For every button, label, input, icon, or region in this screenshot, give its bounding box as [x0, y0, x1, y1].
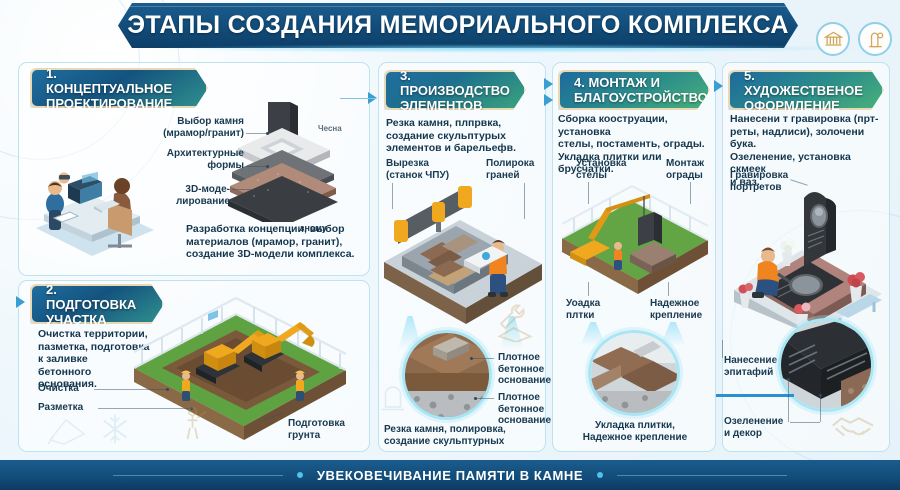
- infographic-canvas: ЭТАПЫ СОЗДАНИЯ МЕМОРИАЛЬНОГО КОМПЛЕКСА 1…: [0, 0, 900, 490]
- art-stele-installation: [554, 168, 716, 298]
- leader-line: [232, 189, 254, 190]
- step-tab-4[interactable]: 4. МОНТАЖ И БЛАГОУСТРОЙСТВО: [558, 70, 710, 110]
- leader-dot: [470, 357, 473, 360]
- step-tab-4-label: 4. МОНТАЖ И БЛАГОУСТРОЙСТВО: [574, 75, 708, 105]
- leader-line: [788, 380, 789, 422]
- leader-dot: [166, 388, 169, 391]
- footer-text: УВЕКОВЕЧИВАНИЕ ПАМЯТИ В КАМНЕ: [317, 468, 583, 483]
- step-3-description: Резка камня, плпрвка, создание скульптур…: [386, 117, 542, 155]
- step-tab-5-label: 5. ХУДОЖЕСТВЕНОЕ ОФОРМЛЕНИЕ: [744, 68, 863, 113]
- trowel-icon: [44, 414, 88, 453]
- leader-line: [722, 340, 723, 358]
- header-icon-group: [816, 22, 892, 56]
- footer-dot: [297, 472, 303, 478]
- leader-dot: [819, 394, 822, 397]
- footer-dot: [597, 472, 603, 478]
- art-engraving-monument: [724, 186, 892, 336]
- monument-outline-icon: [378, 382, 408, 417]
- leader-line: [476, 398, 494, 399]
- flow-arrow: [714, 80, 723, 92]
- title-text: ЭТАПЫ СОЗДАНИЯ МЕМОРИАЛЬНОГО КОМПЛЕКСА: [118, 3, 798, 48]
- step-1-description: Разработка концепции, выбор материалов (…: [186, 223, 356, 261]
- leader-line: [98, 408, 192, 409]
- monument-gear-icon[interactable]: [858, 22, 892, 56]
- worker-silhouette-icon: [180, 405, 210, 448]
- art-design-studio: [28, 118, 158, 258]
- flow-arrow: [16, 296, 25, 308]
- epitaph-closeup-inset: [778, 318, 874, 412]
- footer-rule: [113, 475, 283, 476]
- concrete-base-inset: [402, 330, 492, 420]
- cleaning-label: Очистка: [38, 383, 79, 395]
- tile-laying-label: Уоадка плтки: [566, 298, 600, 321]
- secure-fastening-label: Надежное крепление: [650, 298, 702, 321]
- dense-concrete-base-label-1: Плотное бетонное основание: [498, 352, 551, 387]
- connector-bar: [716, 394, 794, 397]
- step-3-caption: Резка камня, полировка, создание скульпт…: [384, 424, 534, 448]
- leader-line: [588, 282, 589, 296]
- step-tab-3-label: 3. ПРОИЗВОДСТВО ЭЛЕМЕНТОВ: [400, 68, 510, 113]
- leader-dot: [266, 165, 269, 168]
- leader-dot: [474, 397, 477, 400]
- snowflake-icon: [98, 412, 132, 451]
- leader-line: [790, 422, 820, 423]
- leader-line: [246, 133, 268, 134]
- leader-line: [472, 358, 494, 359]
- leader-line: [94, 389, 168, 390]
- landscaping-decor-label: Озеленение и декор: [724, 416, 783, 439]
- footer-banner: УВЕКОВЕЧИВАНИЕ ПАМЯТИ В КАМНЕ: [0, 460, 900, 490]
- footer-rule: [617, 475, 787, 476]
- step-tab-3[interactable]: 3. ПРОИЗВОДСТВО ЭЛЕМЕНТОВ: [384, 70, 526, 110]
- stone-choice-label: Выбор камня (мрамор/гранит): [148, 116, 244, 139]
- 3d-modeling-label: 3D-моде- лирование: [148, 184, 230, 207]
- step-tab-1[interactable]: 1. КОНЦЕПТУАЛЬНОЕ ПРОЕКТИРОВАНИЕ: [30, 68, 208, 108]
- flow-arrow: [544, 78, 553, 90]
- step-tab-5[interactable]: 5. ХУДОЖЕСТВЕНОЕ ОФОРМЛЕНИЕ: [728, 70, 884, 110]
- chesna-label: Чесна: [318, 123, 342, 135]
- edge-polishing-label: Полирока граней: [486, 158, 534, 181]
- marking-label: Разметка: [38, 402, 83, 414]
- soil-preparation-label: Подготовка грунта: [288, 418, 345, 441]
- title-glow: [150, 44, 870, 53]
- architectural-forms-label: Архитектурные формы: [148, 148, 244, 171]
- page-title: ЭТАПЫ СОЗДАНИЯ МЕМОРИАЛЬНОГО КОМПЛЕКСА: [118, 3, 798, 48]
- leader-line: [820, 396, 821, 422]
- step-1-side-note: зному: [300, 223, 327, 235]
- wrench-stone-icon: [494, 300, 536, 347]
- leader-line: [246, 166, 268, 167]
- handshake-icon: [830, 408, 876, 451]
- dense-concrete-base-label-2: Плотное бетонное основание: [498, 392, 551, 427]
- leader-line: [668, 282, 669, 296]
- flow-arrow: [544, 94, 553, 106]
- tiling-closeup-inset: [588, 330, 680, 416]
- connector: [340, 98, 376, 99]
- epitaph-application-label: Нанесение эпитафий: [724, 355, 777, 378]
- classical-building-icon[interactable]: [816, 22, 850, 56]
- cnc-cutting-label: Вырезка (станок ЧПУ): [386, 158, 449, 181]
- step-4-caption: Укладка плитки, Надежное крепление: [560, 420, 710, 444]
- leader-dot: [266, 132, 269, 135]
- step-tab-1-label: 1. КОНЦЕПТУАЛЬНОЕ ПРОЕКТИРОВАНИЕ: [46, 66, 186, 111]
